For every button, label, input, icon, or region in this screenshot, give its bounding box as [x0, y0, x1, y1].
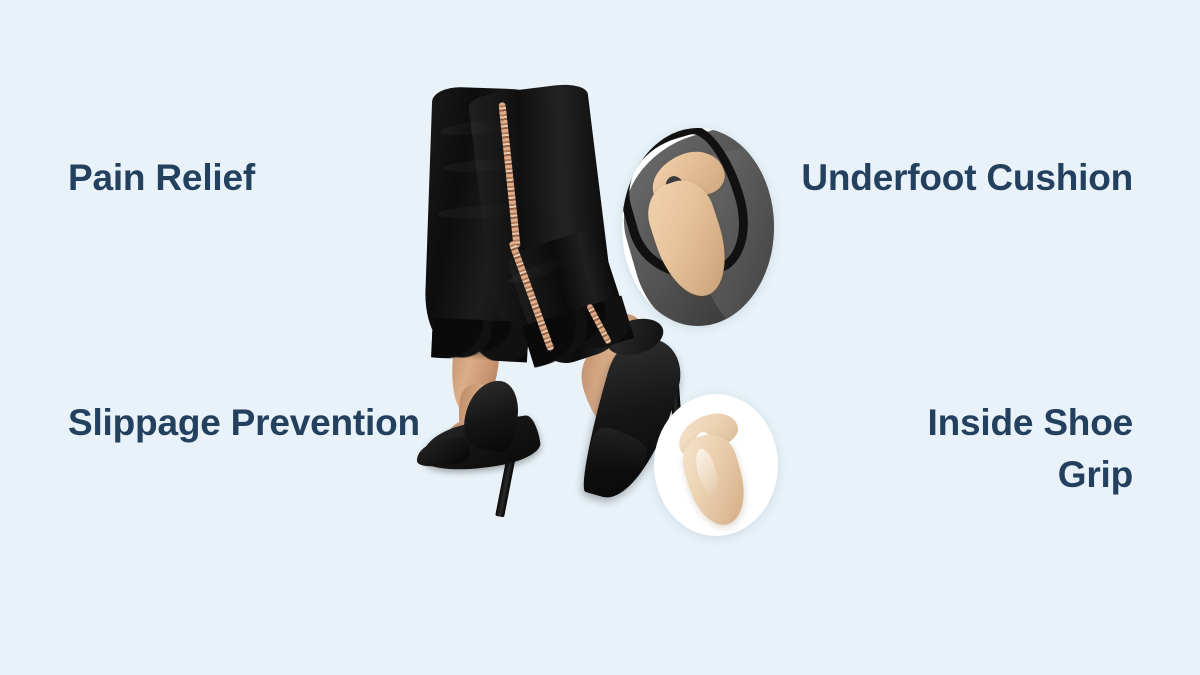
feature-label-pain-relief: Pain Relief	[68, 152, 255, 204]
inset-gel-insole-inside-shoe	[622, 128, 774, 326]
feature-label-slippage-prevention: Slippage Prevention	[68, 397, 420, 449]
inset-gel-pad-product	[654, 394, 778, 536]
feature-label-underfoot-cushion: Underfoot Cushion	[801, 152, 1133, 204]
product-feature-infographic: Pain Relief Slippage Prevention Underfoo…	[0, 0, 1200, 675]
feature-label-inside-shoe-grip: Inside Shoe Grip	[928, 397, 1133, 501]
jeans-frayed-hem	[431, 318, 529, 363]
